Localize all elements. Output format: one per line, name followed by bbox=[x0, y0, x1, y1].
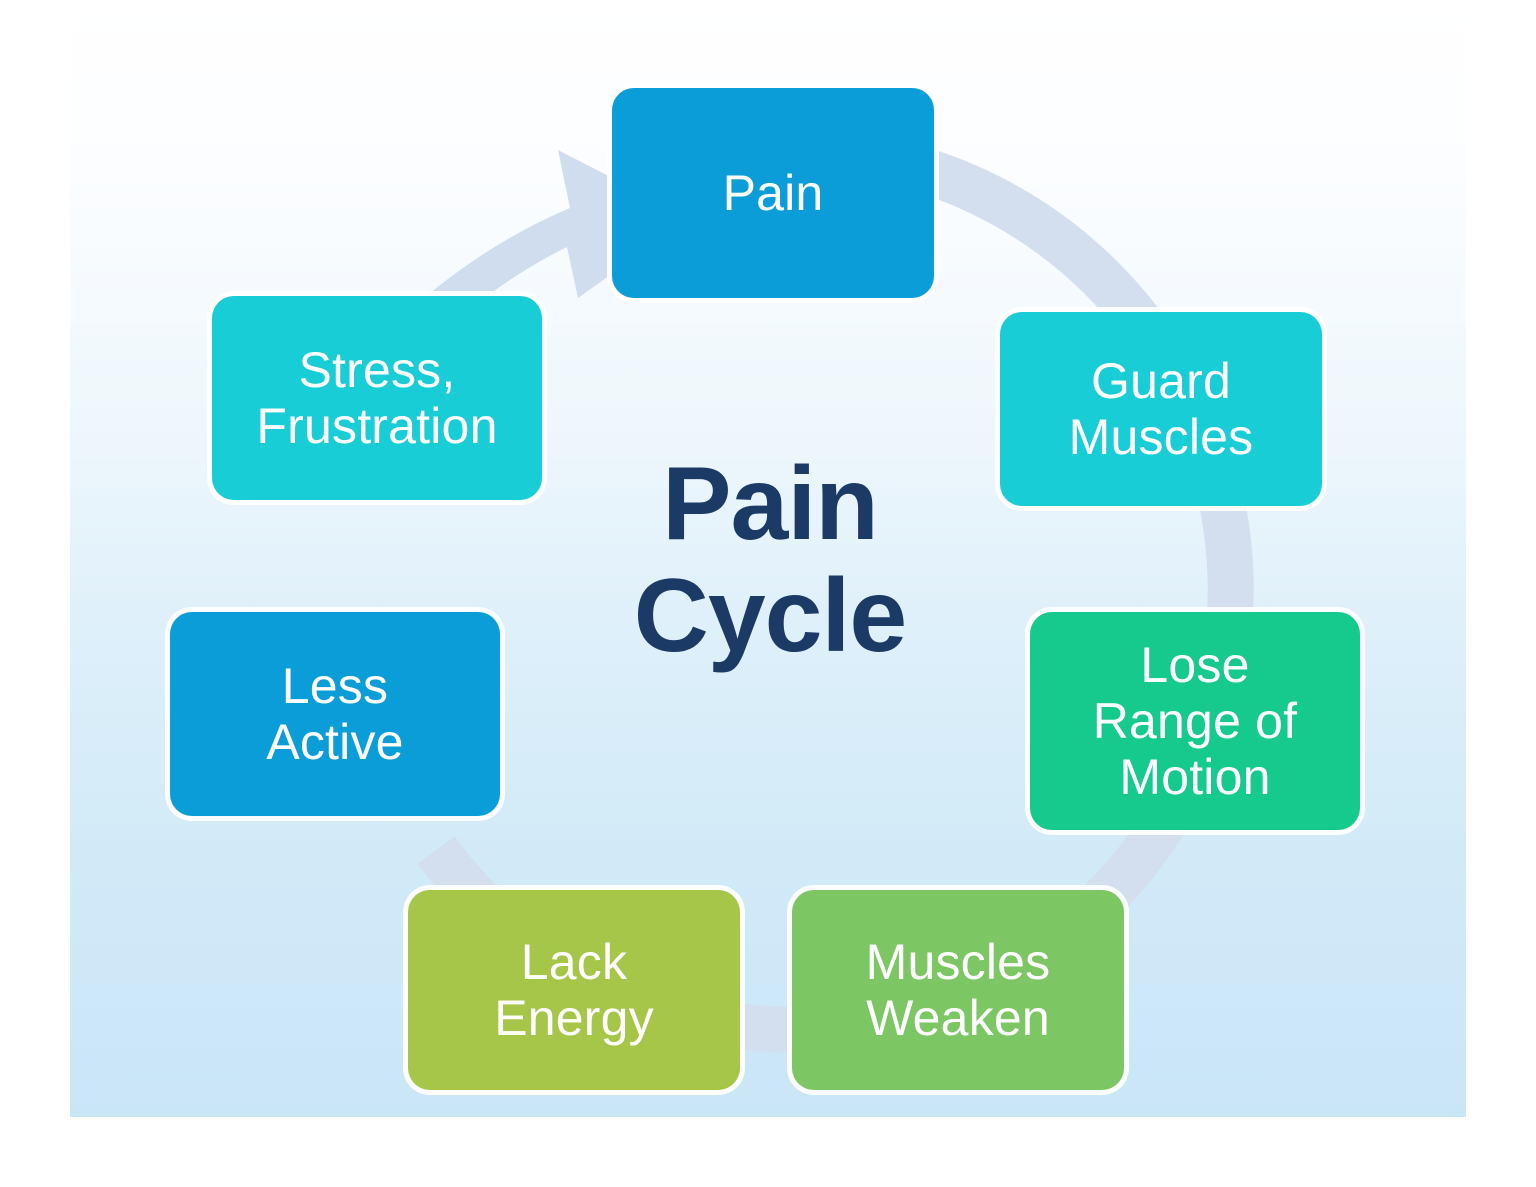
page-title: Pain Cycle bbox=[560, 420, 980, 700]
node-stress-frustration[interactable]: Stress, Frustration bbox=[212, 296, 542, 500]
node-stress-frustration-label: Stress, Frustration bbox=[246, 342, 507, 454]
node-lose-range-of-motion[interactable]: Lose Range of Motion bbox=[1030, 612, 1360, 830]
node-pain[interactable]: Pain bbox=[612, 88, 934, 298]
node-muscles-weaken-label: Muscles Weaken bbox=[856, 934, 1061, 1046]
node-less-active-label: Less Active bbox=[256, 658, 413, 770]
node-lose-range-of-motion-label: Lose Range of Motion bbox=[1083, 637, 1308, 805]
node-lack-energy-label: Lack Energy bbox=[484, 934, 664, 1046]
node-less-active[interactable]: Less Active bbox=[170, 612, 500, 816]
node-lack-energy[interactable]: Lack Energy bbox=[408, 890, 740, 1090]
node-muscles-weaken[interactable]: Muscles Weaken bbox=[792, 890, 1124, 1090]
node-guard-muscles[interactable]: Guard Muscles bbox=[1000, 312, 1322, 506]
node-guard-muscles-label: Guard Muscles bbox=[1059, 353, 1264, 465]
diagram-canvas: Pain Cycle Pain Guard Muscles Lose Range… bbox=[0, 0, 1536, 1187]
diagram-panel: Pain Cycle Pain Guard Muscles Lose Range… bbox=[70, 0, 1466, 1117]
node-pain-label: Pain bbox=[713, 165, 834, 221]
